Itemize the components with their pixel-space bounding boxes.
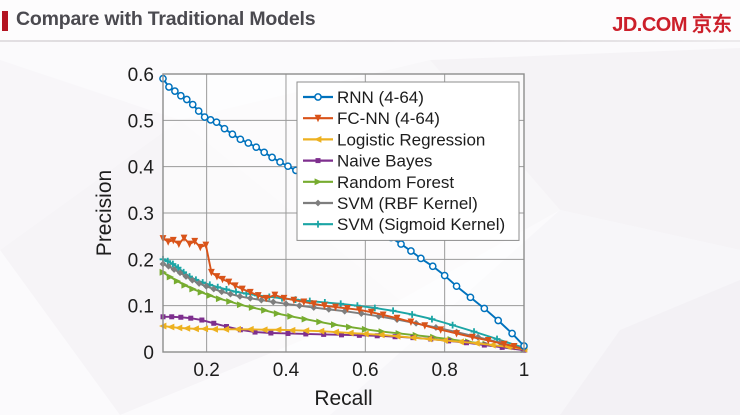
legend-label: RNN (4-64) [337,88,424,107]
chart-canvas: 0.20.40.60.8100.10.20.30.40.50.6 RecallP… [0,47,740,415]
page-title: Compare with Traditional Models [16,8,315,31]
title-accent-bar [2,11,8,31]
y-axis-title: Precision [93,170,116,256]
x-tick-label: 0.2 [193,360,219,381]
legend-label: SVM (RBF Kernel) [337,194,478,213]
y-tick-label: 0 [143,343,154,364]
legend-label: Naive Bayes [337,152,432,171]
slide-header: Compare with Traditional Models JD.COM京东 [0,0,740,41]
jd-logo: JD.COM京东 [612,8,732,37]
y-tick-label: 0.2 [128,250,154,271]
chart-legend[interactable]: RNN (4-64)FC-NN (4-64)Logistic Regressio… [297,82,519,240]
x-tick-label: 1 [519,360,530,381]
y-tick-label: 0.3 [128,204,154,225]
slide-root: Compare with Traditional Models JD.COM京东… [0,0,740,415]
precision-recall-chart: 0.20.40.60.8100.10.20.30.40.50.6 RecallP… [0,47,740,415]
y-tick-label: 0.4 [128,158,155,179]
x-tick-label: 0.6 [352,360,378,381]
y-tick-label: 0.5 [128,111,154,132]
x-tick-label: 0.4 [273,360,300,381]
legend-label: SVM (Sigmoid Kernel) [337,215,505,234]
jd-logo-cn: 京东 [692,14,732,36]
legend-label: Logistic Regression [337,130,485,149]
x-axis-title: Recall [314,387,372,410]
jd-logo-latin: JD.COM [612,14,687,36]
header-divider [0,40,740,42]
x-tick-label: 0.8 [431,360,457,381]
y-tick-label: 0.6 [128,65,154,86]
y-tick-label: 0.1 [128,297,154,318]
legend-label: FC-NN (4-64) [337,109,440,128]
legend-label: Random Forest [337,173,454,192]
